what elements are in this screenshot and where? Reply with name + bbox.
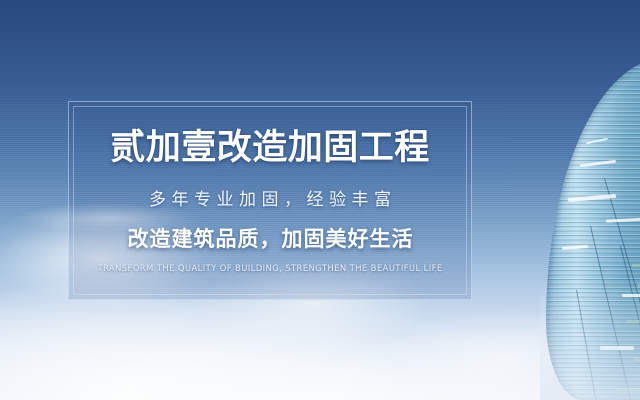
tower-rib xyxy=(590,226,640,400)
tower-window-reflection xyxy=(586,138,608,145)
tower-window-reflection xyxy=(622,294,640,297)
tower-window-reflection xyxy=(562,245,588,250)
banner-tagline-english: TRANSFORM THE QUALITY OF BUILDING, STREN… xyxy=(97,265,442,274)
banner-slogan: 改造建筑品质，加固美好生活 xyxy=(127,229,414,250)
tower-window-reflection xyxy=(568,194,616,202)
tower-rib xyxy=(604,178,640,400)
panel-content: 贰加壹改造加固工程 多年专业加固，经验丰富 改造建筑品质，加固美好生活 TRAN… xyxy=(69,102,471,299)
tower-lit-floor xyxy=(632,264,640,267)
tower-rib xyxy=(576,290,610,400)
tower-lit-floor xyxy=(626,320,640,323)
banner-headline: 贰加壹改造加固工程 xyxy=(110,131,430,166)
tower-lit-floor xyxy=(616,388,640,391)
banner-subline: 多年专业加固，经验丰富 xyxy=(144,192,397,209)
tower-window-reflection xyxy=(606,216,640,222)
tower-window-reflection xyxy=(600,346,634,350)
hero-banner: 贰加壹改造加固工程 多年专业加固，经验丰富 改造建筑品质，加固美好生活 TRAN… xyxy=(0,0,640,400)
tower-rib xyxy=(620,246,640,400)
text-overlay-panel: 贰加壹改造加固工程 多年专业加固，经验丰富 改造建筑品质，加固美好生活 TRAN… xyxy=(68,101,472,300)
tower-lit-floor xyxy=(634,358,640,361)
tower-window-reflection xyxy=(580,160,616,167)
